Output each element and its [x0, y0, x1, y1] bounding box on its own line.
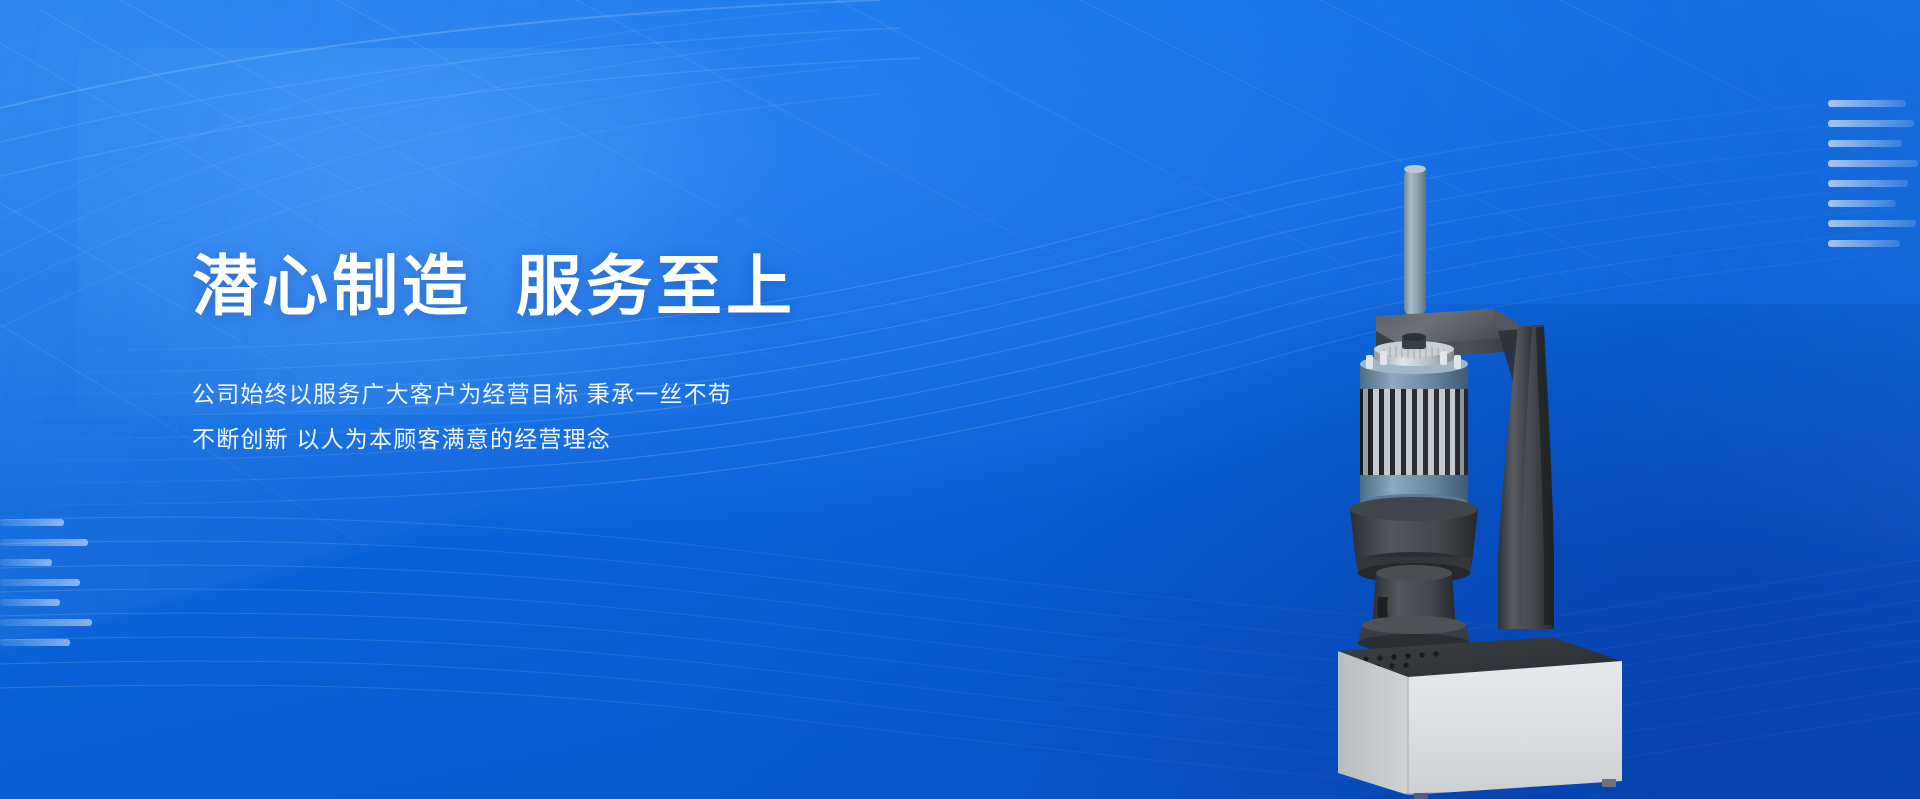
decor-bar [1828, 240, 1900, 247]
banner-copy: 潜心制造服务至上 公司始终以服务广大客户为经营目标 秉承一丝不苟 不断创新 以人… [192, 248, 972, 462]
decor-bar [0, 559, 52, 566]
headline-part-1: 潜心制造 [192, 249, 472, 323]
subtitle-line-2: 不断创新 以人为本顾客满意的经营理念 [192, 417, 972, 462]
thumb-screw-part [1396, 345, 1436, 383]
pedestal-part [1358, 565, 1470, 652]
decor-bar [1828, 100, 1906, 107]
support-column-part [1498, 325, 1554, 629]
collar-part [1350, 497, 1478, 583]
decor-bars-right [1828, 100, 1920, 260]
decor-bar [0, 539, 88, 546]
decor-bar [0, 519, 64, 526]
finned-cylinder-head-part [1360, 333, 1468, 512]
decor-bar [0, 579, 80, 586]
cantilever-arm-part [1376, 309, 1544, 405]
subtitle-line-1: 公司始终以服务广大客户为经营目标 秉承一丝不苟 [192, 372, 972, 417]
decor-bar [0, 619, 92, 626]
decor-bar [1828, 140, 1902, 147]
headline-part-2: 服务至上 [516, 249, 796, 323]
background-sheen-right [914, 0, 1920, 578]
machine-illustration [1322, 159, 1652, 799]
base-cabinet-part [1338, 637, 1622, 799]
decor-bar [0, 639, 70, 646]
decor-bar [1828, 180, 1908, 187]
decor-bar [1828, 220, 1916, 227]
decor-bar [1828, 200, 1896, 207]
decor-bars-left [0, 519, 98, 659]
banner-headline: 潜心制造服务至上 [192, 248, 972, 326]
hero-banner: 潜心制造服务至上 公司始终以服务广大客户为经营目标 秉承一丝不苟 不断创新 以人… [0, 0, 1920, 799]
banner-subtitle: 公司始终以服务广大客户为经营目标 秉承一丝不苟 不断创新 以人为本顾客满意的经营… [192, 372, 972, 462]
decor-bar [1828, 160, 1918, 167]
decor-bar [1828, 120, 1914, 127]
decor-bar [0, 599, 60, 606]
background-vignette-bottom-right [806, 304, 1920, 799]
vertical-rod-part [1404, 165, 1426, 317]
